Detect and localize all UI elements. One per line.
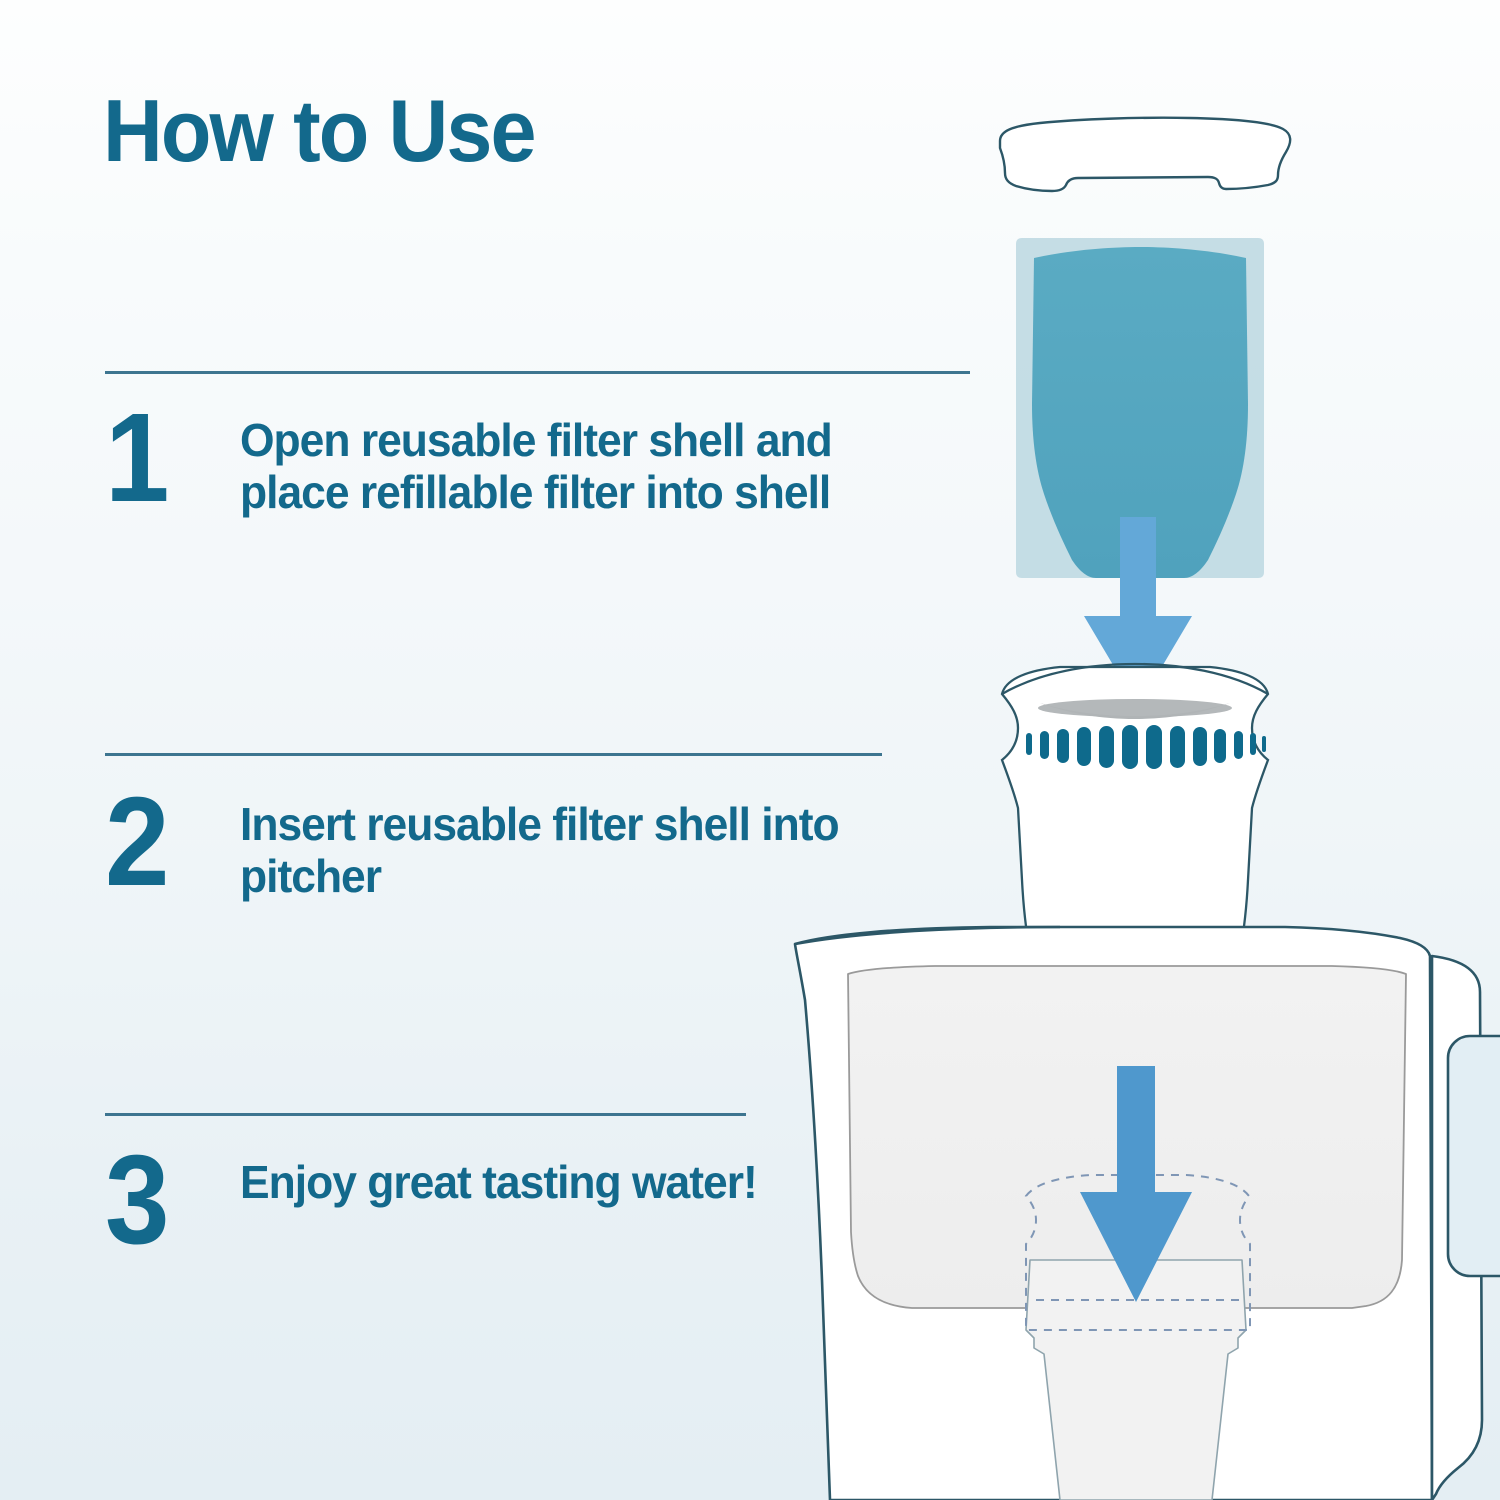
step-text-1: Open reusable filter shell and place ref… xyxy=(240,398,851,518)
how-to-use-infographic: How to Use 1 Open reusable filter shell … xyxy=(0,0,1500,1500)
filter-shell-opening xyxy=(1038,699,1232,719)
step-divider-2 xyxy=(105,753,882,756)
product-illustration xyxy=(0,0,1500,1500)
downward-arrow-lower xyxy=(1080,1066,1192,1302)
page-title: How to Use xyxy=(103,86,535,176)
step-text-3: Enjoy great tasting water! xyxy=(240,1140,757,1208)
step-number-3: 3 xyxy=(105,1140,229,1260)
pitcher xyxy=(795,927,1500,1500)
filter-receptacle xyxy=(1026,1175,1250,1330)
pitcher-reservoir xyxy=(848,966,1406,1308)
step-text-2: Insert reusable filter shell into pitche… xyxy=(240,782,851,902)
downward-arrow-upper xyxy=(1084,517,1192,707)
step-divider-1 xyxy=(105,371,970,374)
pitcher-lid xyxy=(1000,118,1290,191)
filter-shell-vent-slots xyxy=(1026,725,1266,769)
pitcher-funnel xyxy=(1026,1260,1246,1500)
step-number-1: 1 xyxy=(105,398,229,518)
refillable-filter-cartridge xyxy=(1032,247,1248,578)
reusable-filter-shell xyxy=(1002,664,1268,1088)
refillable-filter-outer-shell xyxy=(1016,238,1264,578)
step-item-1: 1 Open reusable filter shell and place r… xyxy=(105,398,880,518)
step-number-2: 2 xyxy=(105,782,229,902)
step-item-3: 3 Enjoy great tasting water! xyxy=(105,1140,781,1260)
pitcher-handle xyxy=(1448,1036,1500,1276)
step-divider-3 xyxy=(105,1113,746,1116)
step-item-2: 2 Insert reusable filter shell into pitc… xyxy=(105,782,880,902)
